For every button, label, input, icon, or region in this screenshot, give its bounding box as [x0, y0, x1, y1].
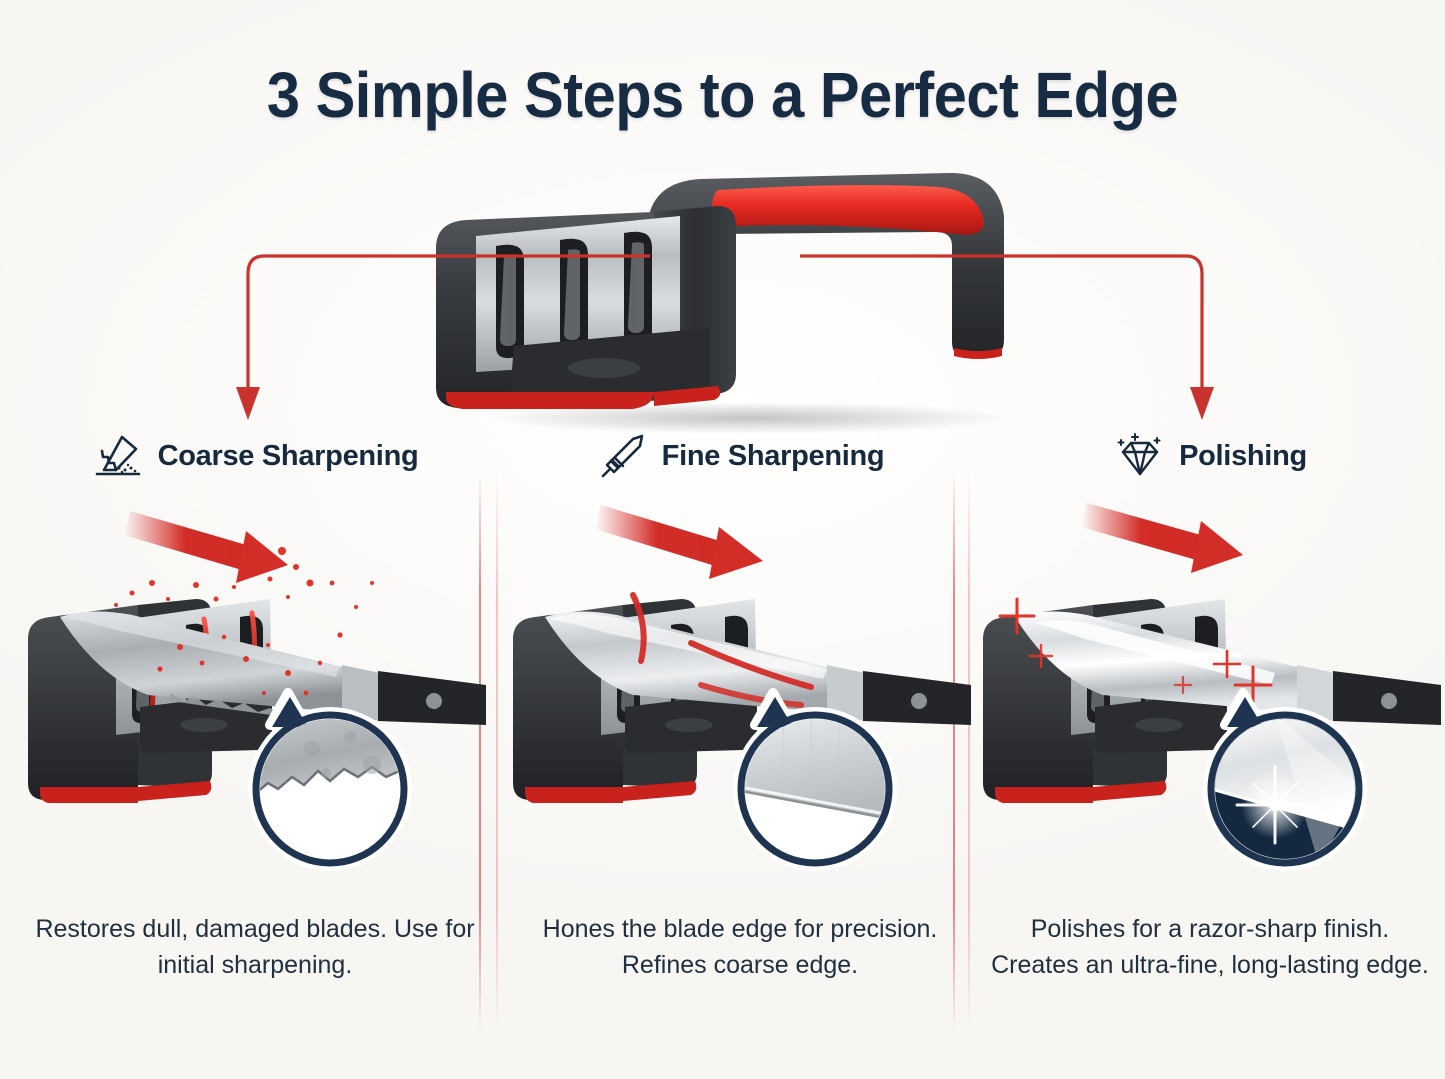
diamond-icon — [1113, 432, 1165, 480]
step-coarse-header: Coarse Sharpening — [20, 425, 490, 487]
panel-divider-1b — [496, 470, 498, 1030]
step-coarse-title: Coarse Sharpening — [158, 440, 419, 473]
step-fine-illustration — [505, 487, 975, 887]
page-title: 3 Simple Steps to a Perfect Edge — [51, 58, 1395, 132]
coarse-grind-icon — [92, 432, 144, 480]
step-fine-description: Hones the blade edge for precision. Refi… — [515, 912, 965, 983]
step-coarse-description: Restores dull, damaged blades. Use for i… — [30, 912, 480, 983]
step-coarse-illustration — [20, 487, 490, 887]
step-polishing-header: Polishing — [975, 425, 1445, 487]
step-fine-header: Fine Sharpening — [505, 425, 975, 487]
step-polishing: Polishing — [975, 425, 1445, 1045]
step-polishing-description: Polishes for a razor-sharp finish. Creat… — [985, 912, 1435, 983]
step-polishing-illustration — [975, 487, 1445, 887]
step-fine-title: Fine Sharpening — [662, 440, 885, 473]
step-fine: Fine Sharpening — [505, 425, 975, 1045]
step-coarse: Coarse Sharpening — [20, 425, 490, 1045]
blade-icon — [596, 432, 648, 480]
hero-product-image — [418, 160, 1048, 435]
step-polishing-title: Polishing — [1179, 440, 1307, 473]
